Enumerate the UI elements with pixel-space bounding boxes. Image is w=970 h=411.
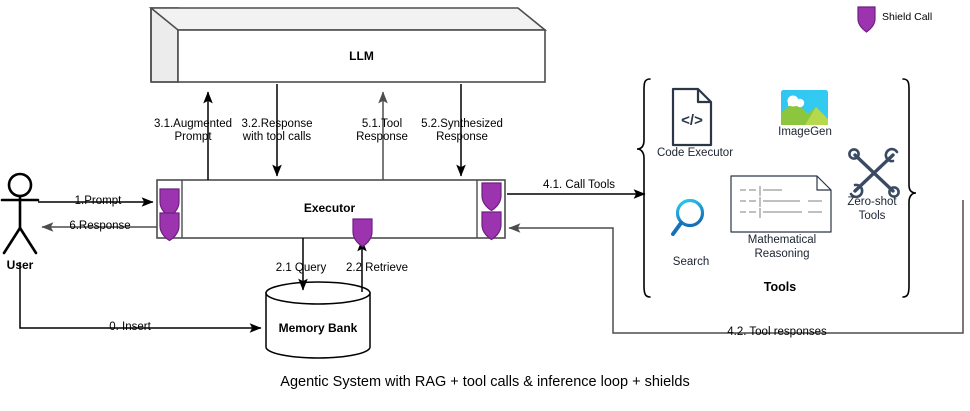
edge-label-response-with-tool-calls: 3.2.Response with tool calls bbox=[222, 118, 332, 144]
tools-left-brace bbox=[637, 79, 650, 297]
tool-label-mathematical-reasoning: Mathematical Reasoning bbox=[726, 234, 838, 261]
tool-label-search: Search bbox=[655, 256, 727, 270]
user-label: User bbox=[0, 258, 40, 272]
tool-label-code-executor: Code Executor bbox=[640, 147, 750, 161]
edge-label-retrieve: 2.2 Retrieve bbox=[330, 262, 424, 275]
llm-node bbox=[151, 8, 545, 82]
edge-label-synthesized-response: 5.2.Synthesized Response bbox=[409, 118, 515, 144]
tool-label-zero-shot-tools: Zero-shot Tools bbox=[832, 196, 912, 223]
edge-label-prompt: 1.Prompt bbox=[48, 195, 148, 208]
code-document-icon: </> bbox=[673, 89, 711, 145]
edge-label-response: 6.Response bbox=[48, 220, 152, 233]
memory-bank-label: Memory Bank bbox=[266, 321, 370, 335]
user-actor bbox=[2, 174, 38, 253]
llm-label: LLM bbox=[178, 49, 545, 63]
edge-insert bbox=[20, 262, 261, 328]
edge-label-call-tools: 4.1. Call Tools bbox=[527, 179, 631, 192]
image-picture-icon bbox=[781, 90, 828, 125]
legend-shield-label: Shield Call bbox=[882, 11, 932, 23]
diagram-caption: Agentic System with RAG + tool calls & i… bbox=[0, 374, 970, 390]
shield-legend-icon bbox=[858, 7, 875, 32]
tools-right-brace bbox=[903, 79, 916, 297]
edge-label-insert: 0. Insert bbox=[75, 321, 185, 334]
tool-label-imagegen: ImageGen bbox=[758, 126, 852, 140]
magnifier-icon bbox=[673, 201, 703, 235]
tools-group-label: Tools bbox=[700, 280, 860, 294]
svg-text:</>: </> bbox=[681, 112, 703, 129]
shield-executor-memory bbox=[353, 219, 372, 247]
math-document-icon bbox=[731, 176, 831, 232]
edge-label-tool-responses: 4.2. Tool responses bbox=[715, 326, 839, 339]
memory-bank-node bbox=[266, 282, 370, 358]
diagram-canvas: </> bbox=[0, 0, 970, 411]
executor-label: Executor bbox=[182, 201, 477, 215]
crossed-wrenches-icon bbox=[849, 149, 898, 197]
